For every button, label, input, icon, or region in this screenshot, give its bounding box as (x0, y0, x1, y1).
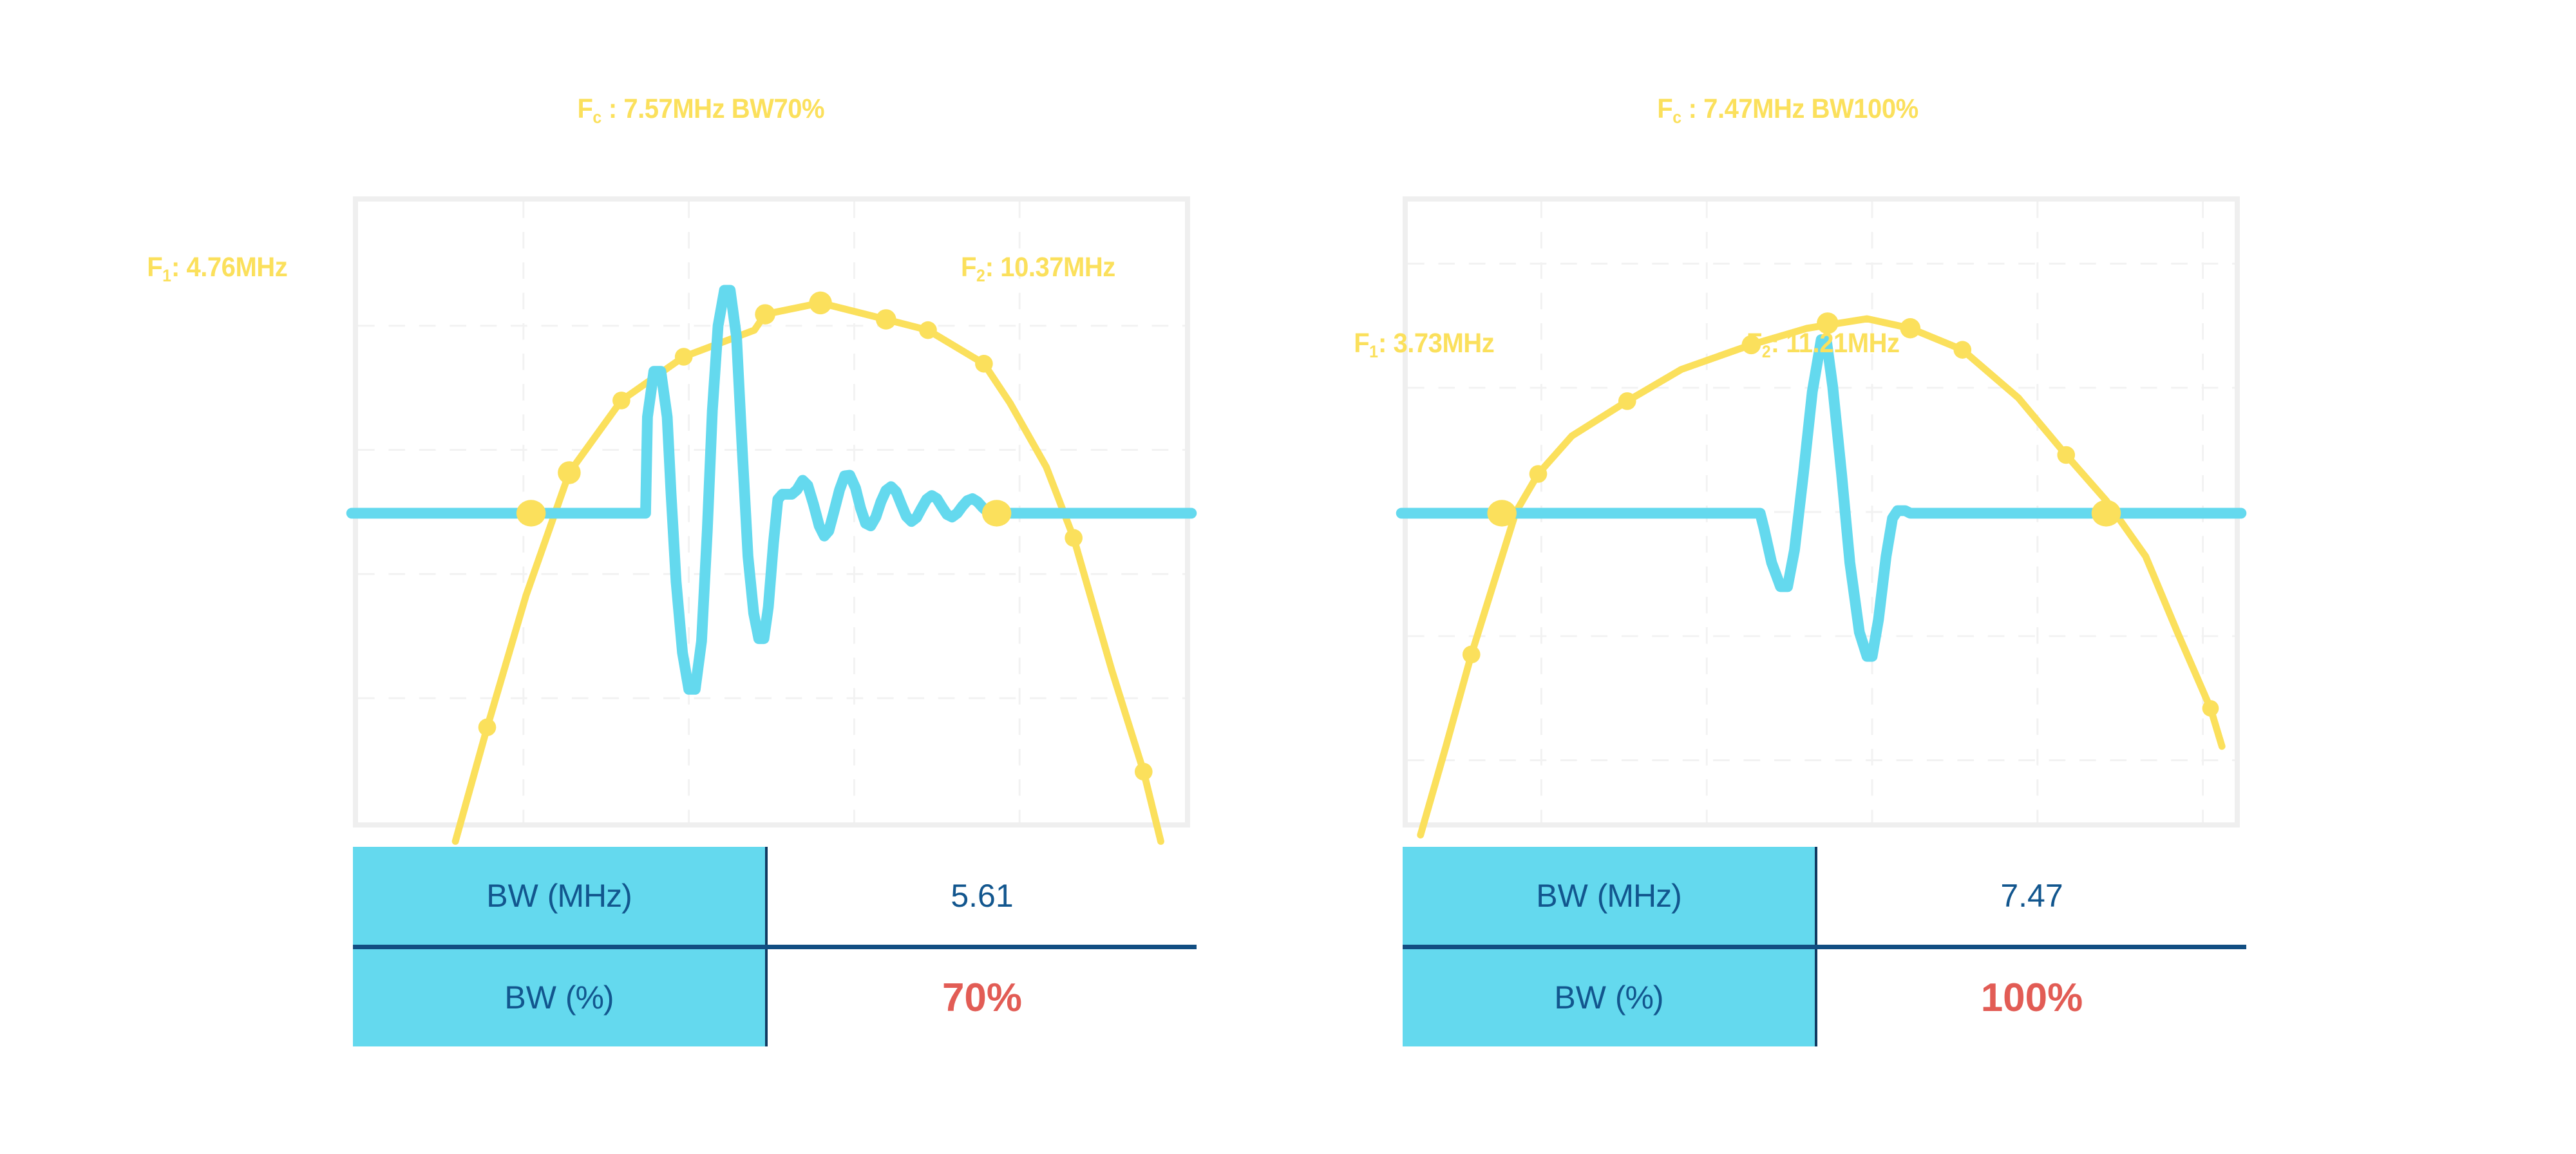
label-f1-subscript: 1 (162, 266, 171, 285)
label-fc-prefix: F (577, 93, 592, 124)
f1-marker (516, 500, 545, 526)
label-f1-subscript: 1 (1369, 342, 1378, 361)
label-f2-text: : 10.37MHz (985, 252, 1115, 283)
panel-bw100: Fc : 7.47MHz BW100% F1: 3.73MHz F2: 11.2… (1385, 0, 2248, 1154)
label-fc-text: : 7.57MHz BW70% (601, 93, 824, 124)
bw-table-bw100: BW (MHz) 7.47 BW (%) 100% (1403, 847, 2246, 1046)
table-cell-key-pct: BW (%) (353, 947, 766, 1046)
figure-canvas: Fc : 7.57MHz BW70% F1: 4.76MHz F2: 10.37… (0, 0, 2576, 1154)
panel-bw70: Fc : 7.57MHz BW70% F1: 4.76MHz F2: 10.37… (335, 0, 1198, 1154)
key-label-paren: (%) (565, 979, 614, 1016)
key-label-main: BW (1536, 878, 1596, 914)
key-label-paren: (MHz) (1597, 878, 1681, 914)
label-fc-text: : 7.47MHz BW100% (1681, 93, 1918, 124)
label-fc-bw70: Fc : 7.57MHz BW70% (577, 95, 824, 123)
pulse-waveform (352, 290, 1191, 690)
label-f2-text: : 11.21MHz (1771, 328, 1900, 359)
label-fc-subscript: c (592, 108, 601, 127)
table-row: BW (MHz) 5.61 (353, 847, 1197, 947)
table-cell-key-pct: BW (%) (1403, 947, 1816, 1046)
plot-chart-bw70 (358, 202, 1185, 822)
label-f1-prefix: F (147, 252, 162, 283)
key-label-main: BW (486, 878, 547, 914)
label-f2-subscript: 2 (1762, 342, 1771, 361)
key-label-main: BW (504, 979, 565, 1016)
table-row: BW (%) 100% (1403, 947, 2246, 1046)
label-fc-bw100: Fc : 7.47MHz BW100% (1657, 95, 1918, 123)
key-label-main: BW (1554, 979, 1615, 1016)
plot-frame-bw70 (353, 196, 1190, 828)
table-cell-value-pct: 100% (1816, 947, 2246, 1046)
label-f2-subscript: 2 (976, 266, 985, 285)
label-fc-prefix: F (1657, 93, 1672, 124)
table-cell-value-pct: 70% (766, 947, 1197, 1046)
bw-table-bw70: BW (MHz) 5.61 BW (%) 70% (353, 847, 1197, 1046)
label-f1-bw100: F1: 3.73MHz (1354, 330, 1494, 357)
spectrum-curve (455, 303, 1160, 841)
label-f2-bw100: F2: 11.21MHz (1747, 330, 1900, 357)
label-f1-text: : 4.76MHz (171, 252, 287, 283)
label-f2-prefix: F (961, 252, 976, 283)
table-cell-value-mhz: 5.61 (766, 847, 1197, 947)
spectrum-markers (478, 292, 1153, 780)
label-f1-text: : 3.73MHz (1378, 328, 1494, 359)
f2-marker (2092, 500, 2121, 526)
table-row: BW (%) 70% (353, 947, 1197, 1046)
f1-marker (1487, 500, 1516, 526)
label-f1-bw70: F1: 4.76MHz (147, 254, 287, 281)
table-cell-value-mhz: 7.47 (1816, 847, 2246, 947)
label-f2-bw70: F2: 10.37MHz (961, 254, 1115, 281)
f2-marker (982, 500, 1011, 526)
key-label-paren: (MHz) (547, 878, 632, 914)
table-row: BW (MHz) 7.47 (1403, 847, 2246, 947)
plot-frame-bw100 (1403, 196, 2240, 828)
label-f2-prefix: F (1747, 328, 1762, 359)
table-cell-key-mhz: BW (MHz) (1403, 847, 1816, 947)
table-cell-key-mhz: BW (MHz) (353, 847, 766, 947)
key-label-paren: (%) (1615, 979, 1663, 1016)
plot-chart-bw100 (1408, 202, 2235, 822)
label-fc-subscript: c (1672, 108, 1681, 127)
label-f1-prefix: F (1354, 328, 1369, 359)
